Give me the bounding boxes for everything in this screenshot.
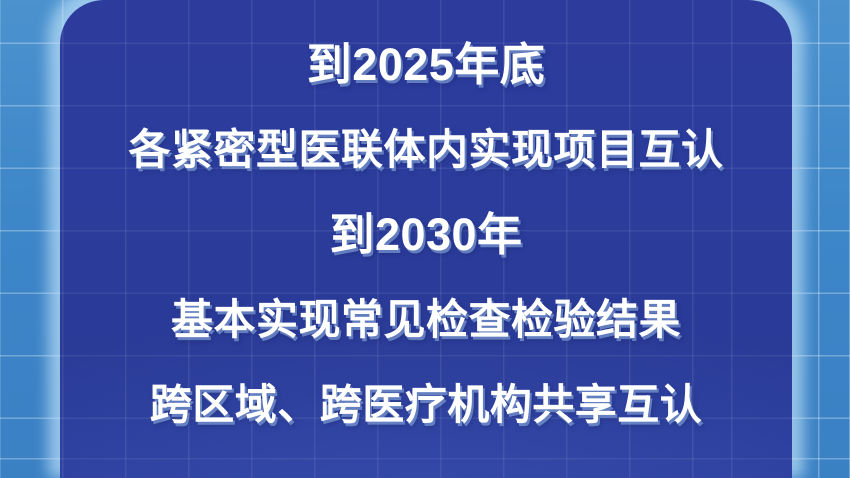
headline-line-3: 到2030年 — [60, 192, 792, 277]
headline-line-1: 到2025年底 — [60, 22, 792, 107]
infographic-slide: 到2025年底 各紧密型医联体内实现项目互认 到2030年 基本实现常见检查检验… — [0, 0, 850, 478]
headline-line-2: 各紧密型医联体内实现项目互认 — [60, 107, 792, 192]
headline-block: 到2025年底 各紧密型医联体内实现项目互认 到2030年 基本实现常见检查检验… — [60, 0, 792, 478]
headline-line-5: 跨区域、跨医疗机构共享互认 — [60, 362, 792, 447]
headline-line-4: 基本实现常见检查检验结果 — [60, 277, 792, 362]
content-card: 到2025年底 各紧密型医联体内实现项目互认 到2030年 基本实现常见检查检验… — [60, 0, 792, 478]
